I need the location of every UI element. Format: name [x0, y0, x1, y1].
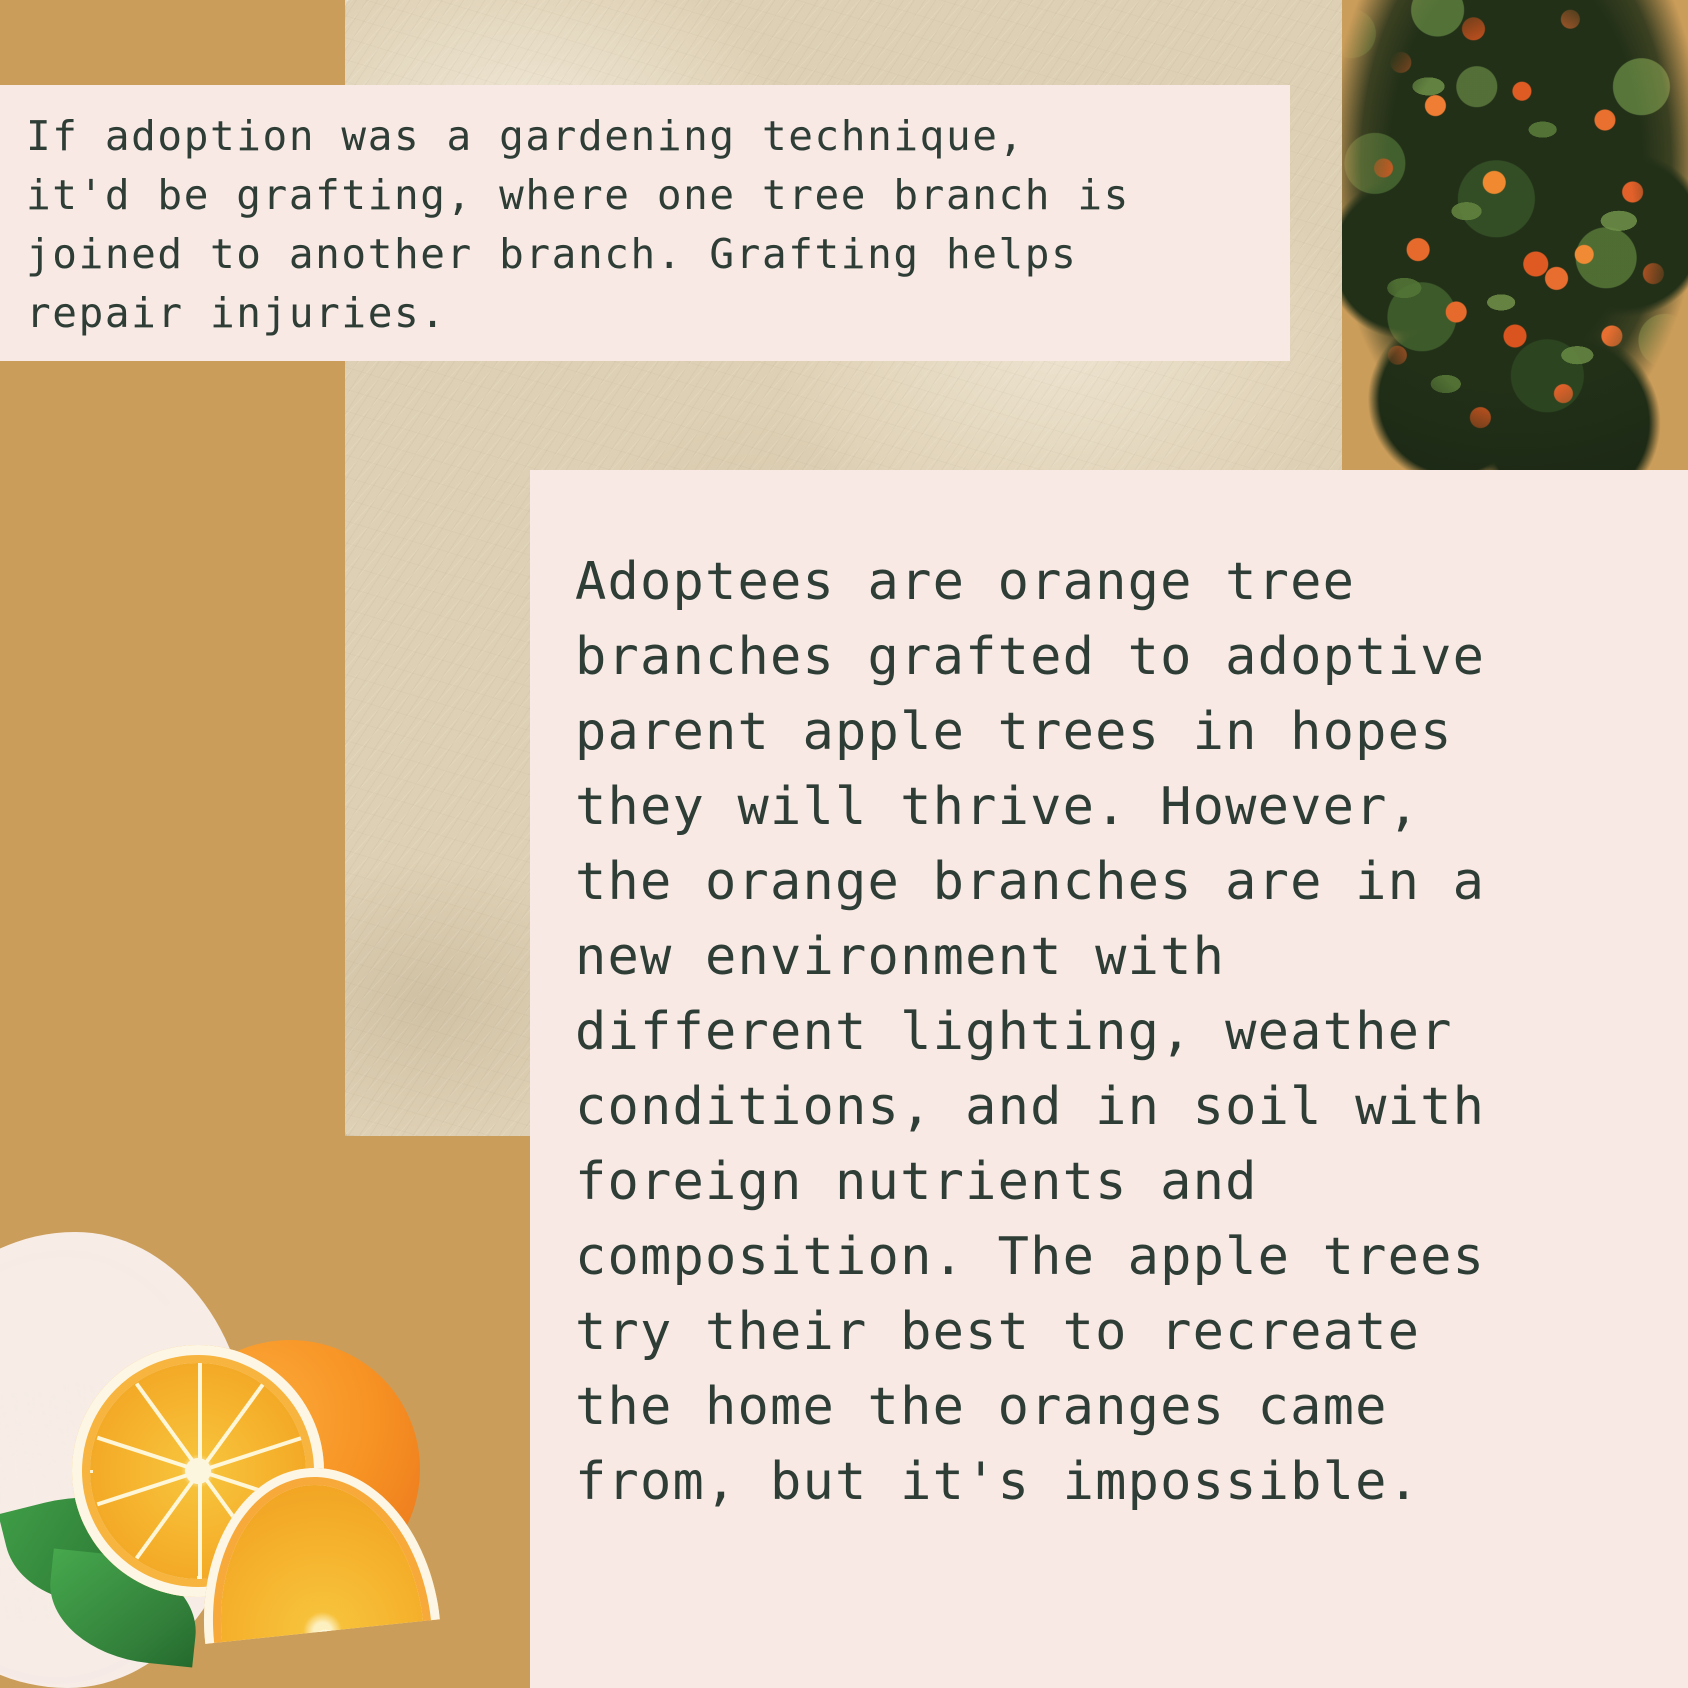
orange-tree-photo: [1342, 0, 1688, 480]
wedge-flesh: [207, 1475, 439, 1644]
tree-foliage: [1342, 0, 1688, 480]
intro-quote-card: If adoption was a gardening technique, i…: [0, 85, 1290, 361]
poster-canvas: If adoption was a gardening technique, i…: [0, 0, 1688, 1688]
wedge-rind: [188, 1456, 440, 1644]
orange-wedge-slice: [188, 1456, 440, 1644]
body-paragraph-card: Adoptees are orange tree branches grafte…: [530, 470, 1688, 1688]
body-paragraph-text: Adoptees are orange tree branches grafte…: [575, 545, 1595, 1520]
intro-quote-text: If adoption was a gardening technique, i…: [26, 107, 1266, 343]
